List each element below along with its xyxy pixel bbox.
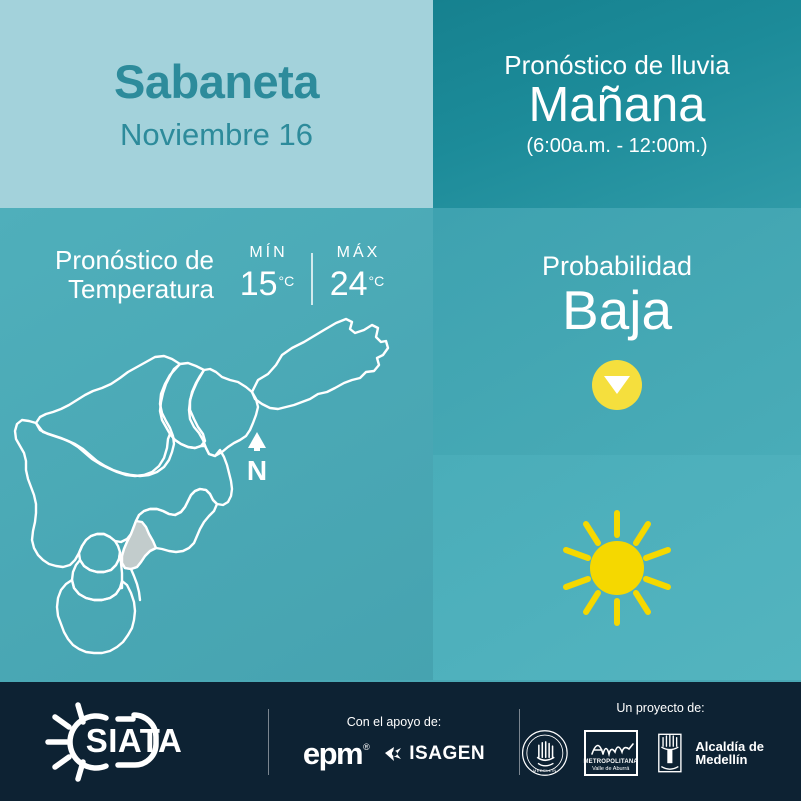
municipality-map: N: [0, 308, 433, 678]
rain-forecast-hours: (6:00a.m. - 12:00m.): [526, 136, 707, 156]
isagen-wordmark: ISAGEN: [409, 744, 485, 763]
map-region-girardota: [189, 369, 258, 456]
area-metropolitana-logo: METROPOLITANA Valle de Aburrá: [584, 730, 638, 776]
probability-panel: Probabilidad Baja: [433, 208, 801, 455]
map-region-barbosa: [252, 319, 388, 409]
project-title: Un proyecto de:: [616, 701, 704, 715]
support-title: Con el apoyo de:: [347, 715, 442, 729]
support-credits: Con el apoyo de: epm® ISAGEN: [269, 715, 519, 769]
probability-label: Probabilidad: [542, 253, 692, 280]
area-line2: Valle de Aburrá: [592, 766, 629, 772]
siata-wordmark: SIATA: [86, 722, 183, 759]
epm-logo: epm®: [303, 738, 367, 769]
alcaldia-medellin-logo: Alcaldía de Medellín: [652, 725, 801, 781]
sun-cloud-icon: SIATA: [34, 698, 234, 786]
siata-logo: SIATA: [0, 698, 268, 786]
temperature-map-panel: Pronóstico de Temperatura MÍN 15°C MÁX 2…: [0, 208, 433, 680]
temperature-title-line1: Pronóstico de: [0, 246, 214, 275]
temperature-row: Pronóstico de Temperatura MÍN 15°C MÁX 2…: [0, 230, 433, 320]
max-value: 24°C: [330, 267, 385, 301]
temperature-title: Pronóstico de Temperatura: [0, 246, 228, 304]
max-unit: °C: [369, 274, 385, 288]
map-region-caldas: [57, 580, 135, 653]
map-region-copacabana: [160, 363, 205, 448]
alcaldia-crest-icon: [652, 725, 688, 781]
min-unit: °C: [279, 274, 295, 288]
min-max-group: MÍN 15°C MÁX 24°C: [228, 245, 396, 305]
area-line1: METROPOLITANA: [583, 759, 638, 766]
sun-icon: [552, 503, 682, 633]
weather-forecast-card: Sabaneta Noviembre 16 Pronóstico de lluv…: [0, 0, 801, 801]
alcaldia-wordmark: Alcaldía de Medellín: [695, 740, 801, 766]
sky-condition-panel: [433, 455, 801, 680]
north-arrow-icon: [248, 432, 266, 451]
isagen-icon: [381, 741, 405, 765]
min-label: MÍN: [246, 245, 287, 261]
min-number: 15: [240, 267, 278, 301]
medellin-seal-icon: MEDELLIN: [520, 724, 570, 782]
max-temperature-block: MÁX 24°C: [318, 245, 396, 301]
rain-forecast-period: Mañana: [528, 80, 705, 131]
footer-bar: SIATA Con el apoyo de: epm® ISAGEN Un pr…: [0, 680, 801, 801]
temperature-title-line2: Temperatura: [0, 275, 214, 304]
area-signature-icon: [588, 735, 636, 759]
rain-forecast-label: Pronóstico de lluvia: [504, 52, 729, 78]
rain-forecast-panel: Pronóstico de lluvia Mañana (6:00a.m. - …: [433, 0, 801, 208]
support-logo-row: epm® ISAGEN: [303, 738, 485, 769]
minmax-divider: [311, 253, 313, 305]
max-label: MÁX: [334, 245, 381, 261]
registered-mark-icon: ®: [363, 742, 368, 752]
medellin-seal-label: MEDELLIN: [533, 768, 557, 773]
isagen-logo: ISAGEN: [381, 741, 485, 765]
map-region-bello: [36, 356, 180, 476]
max-number: 24: [330, 267, 368, 301]
map-region-medellin: [15, 420, 232, 567]
city-name: Sabaneta: [114, 58, 319, 105]
min-value: 15°C: [240, 267, 295, 301]
north-label: N: [247, 455, 267, 486]
project-logo-row: MEDELLIN METROPOLITANA Valle de Aburrá: [520, 724, 801, 782]
city-header-panel: Sabaneta Noviembre 16: [0, 0, 433, 208]
forecast-date: Noviembre 16: [120, 119, 313, 150]
map-region-sabaneta: [122, 521, 156, 569]
probability-value: Baja: [562, 282, 672, 340]
epm-wordmark: epm: [303, 736, 362, 771]
triangle-down-glyph: [604, 376, 630, 394]
project-credits: Un proyecto de: MEDELLIN METROPOLITANA V…: [520, 701, 801, 782]
triangle-down-icon: [592, 360, 642, 410]
min-temperature-block: MÍN 15°C: [228, 245, 306, 301]
